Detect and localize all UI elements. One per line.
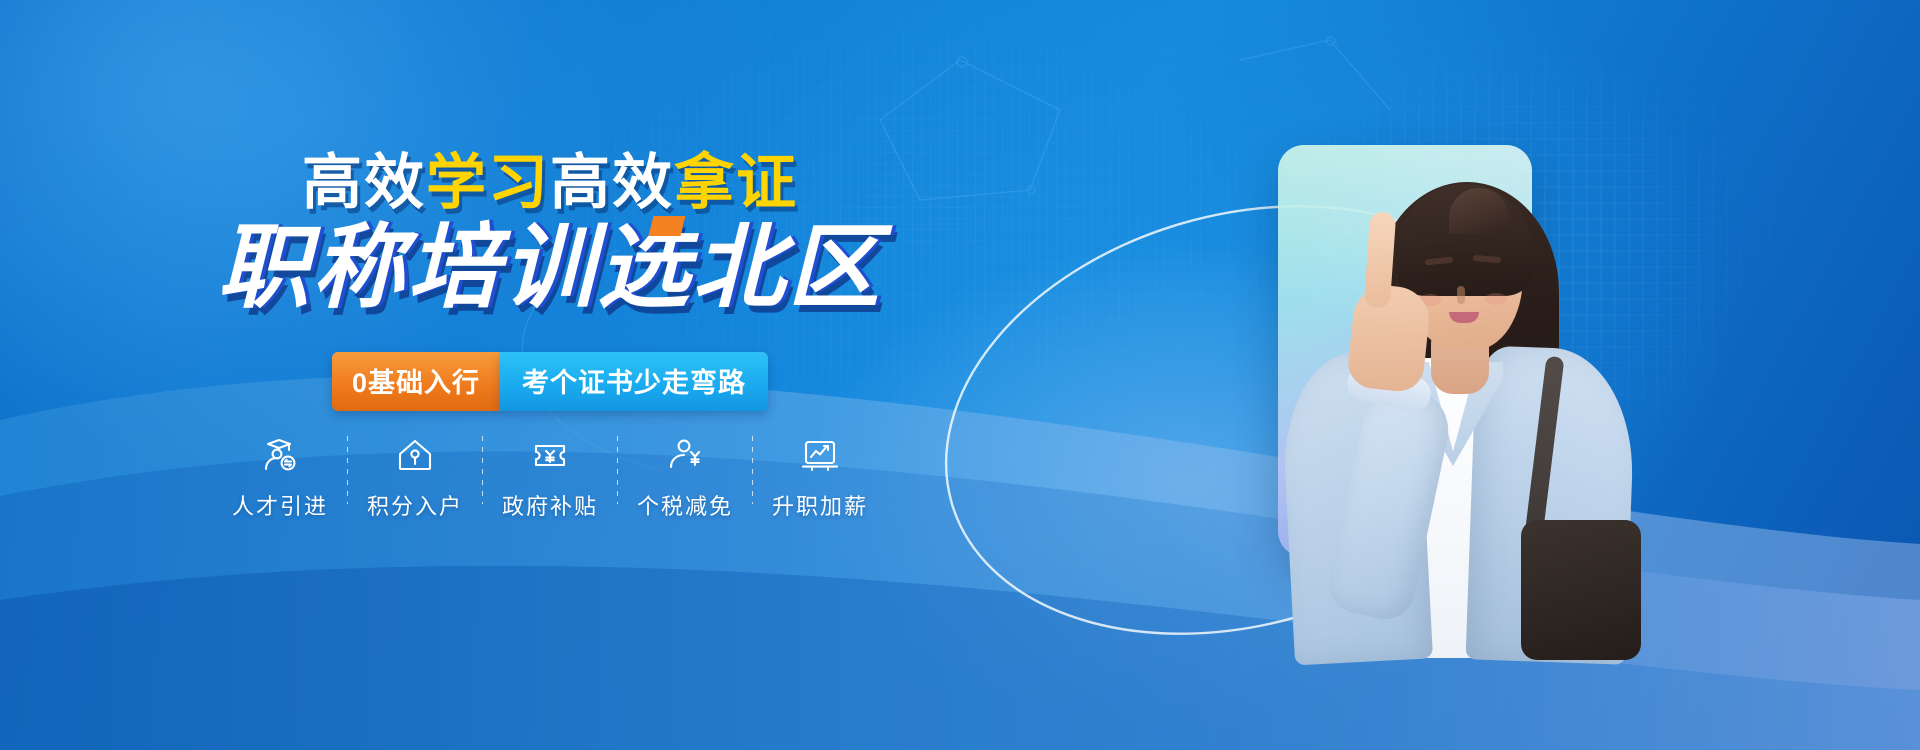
chart-board-icon (797, 432, 843, 478)
headline-top: 高效学习高效拿证 (0, 153, 1100, 213)
feature-label: 个税减免 (637, 489, 733, 521)
feature-label: 人才引进 (232, 489, 328, 521)
headline-top-part-3: 高效 (550, 149, 674, 216)
badge-primary[interactable]: 0基础入行 (332, 352, 500, 411)
feature-label: 积分入户 (367, 489, 463, 521)
headline-top-part-4: 拿证 (674, 149, 798, 216)
feature-row: 人才引进 积分入户 (0, 432, 1100, 521)
promo-banner: 2 39 (0, 0, 1920, 750)
feature-item-hukou[interactable]: 积分入户 (348, 432, 482, 521)
headline-top-part-2: 学习 (426, 149, 550, 216)
headline-top-part-1: 高效 (302, 149, 426, 216)
copy-block: 高效学习高效拿证 职称培训选北区 0基础入行 考个证书少走弯路 (0, 0, 1920, 750)
feature-label: 升职加薪 (772, 489, 868, 521)
feature-item-talent[interactable]: 人才引进 (213, 432, 347, 521)
coupon-yuan-icon (527, 432, 573, 478)
badge-row: 0基础入行 考个证书少走弯路 (0, 352, 1100, 411)
graduate-person-icon (257, 432, 303, 478)
feature-item-promotion[interactable]: 升职加薪 (753, 432, 887, 521)
feature-label: 政府补贴 (502, 489, 598, 521)
person-yuan-icon (662, 432, 708, 478)
headline-main-text: 职称培训选北区 (217, 217, 882, 319)
feature-item-subsidy[interactable]: 政府补贴 (483, 432, 617, 521)
house-pin-icon (392, 432, 438, 478)
feature-item-tax[interactable]: 个税减免 (618, 432, 752, 521)
headline-main: 职称培训选北区 (0, 222, 1100, 314)
orange-accent-mark (649, 216, 686, 236)
badge-secondary[interactable]: 考个证书少走弯路 (500, 352, 768, 411)
